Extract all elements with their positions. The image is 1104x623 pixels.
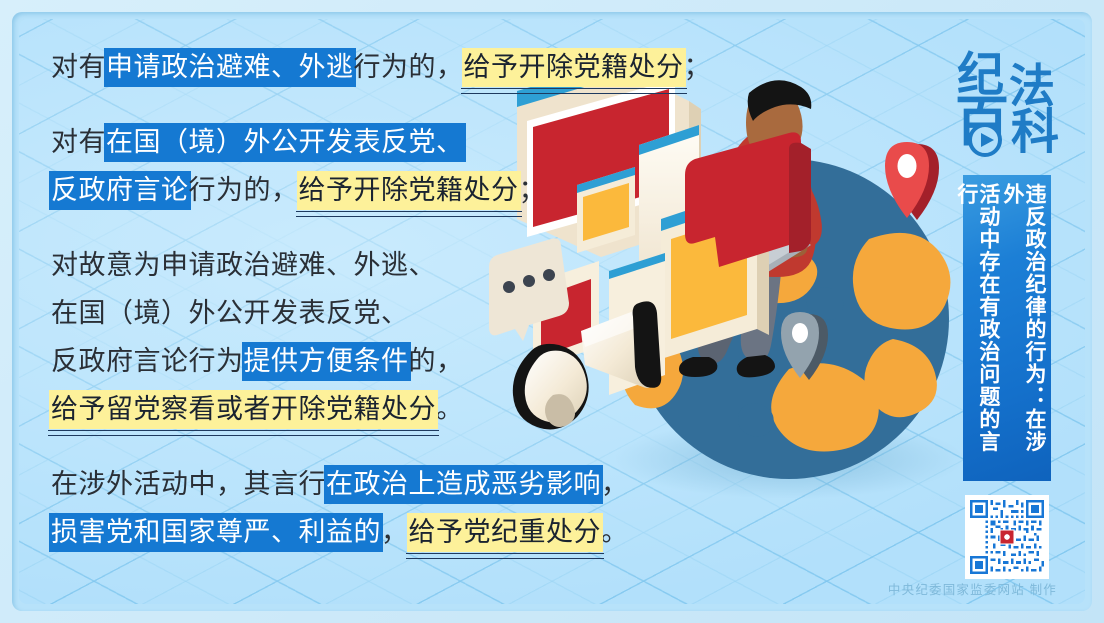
highlight-yellow-run: 给予留党察看或者开除党籍处分 xyxy=(51,392,436,427)
highlight-blue-run: 损害党和国家尊严、利益的 xyxy=(51,515,381,550)
highlight-yellow-run: 给予开除党籍处分 xyxy=(299,173,519,208)
text-line: 对有申请政治避难、外逃行为的，给予开除党籍处分； xyxy=(51,43,691,91)
highlight-blue-run: 反政府言论 xyxy=(51,173,189,208)
body-text-block: 对有申请政治避难、外逃行为的，给予开除党籍处分； 对有在国（境）外公开发表反党、… xyxy=(51,43,691,556)
paragraph-3: 对故意为申请政治避难、外逃、 在国（境）外公开发表反党、 反政府言论行为提供方便… xyxy=(51,241,691,433)
banner-column-right: 违反政治纪律的行为：在涉外 xyxy=(1001,183,1045,475)
text-line: 在国（境）外公开发表反党、 xyxy=(51,289,691,337)
play-triangle-icon xyxy=(968,123,1002,157)
poster-root: 对有申请政治避难、外逃行为的，给予开除党籍处分； 对有在国（境）外公开发表反党、… xyxy=(0,0,1104,623)
paragraph-2: 对有在国（境）外公开发表反党、 反政府言论行为的，给予开除党籍处分； xyxy=(51,118,691,214)
vertical-title-banner: 违反政治纪律的行为：在涉外 活动中存在有政治问题的言行 xyxy=(963,175,1051,481)
highlight-yellow-run: 给予党纪重处分 xyxy=(409,515,602,550)
text-line: 反政府言论行为的，给予开除党籍处分； xyxy=(51,166,691,214)
text-run: 行为的， xyxy=(189,175,299,205)
paragraph-1: 对有申请政治避难、外逃行为的，给予开除党籍处分； xyxy=(51,43,691,91)
paragraph-4: 在涉外活动中，其言行在政治上造成恶劣影响， 损害党和国家尊严、利益的，给予党纪重… xyxy=(51,460,691,556)
text-run: 对有 xyxy=(51,127,106,157)
poster-stage: 对有申请政治避难、外逃行为的，给予开除党籍处分； 对有在国（境）外公开发表反党、… xyxy=(19,19,1085,604)
right-rail: 纪 法 百 科 违反政治纪律的行为：在涉外 活动中存在有政治问题的言行 xyxy=(951,41,1063,579)
text-run: 的， xyxy=(409,346,464,376)
text-run: ； xyxy=(684,52,712,82)
qr-code-image xyxy=(970,500,1044,574)
text-line: 对故意为申请政治避难、外逃、 xyxy=(51,241,691,289)
highlight-blue-run: 申请政治避难、外逃 xyxy=(106,50,354,85)
text-run: ； xyxy=(519,175,547,205)
text-run: 在国（境）外公开发表反党、 xyxy=(51,298,409,328)
text-line: 对有在国（境）外公开发表反党、 xyxy=(51,118,691,166)
logo-char-ke: 科 xyxy=(1011,109,1059,157)
highlight-blue-run: 在政治上造成恶劣影响 xyxy=(326,467,601,502)
highlight-blue-run: 在国（境）外公开发表反党、 xyxy=(106,125,464,160)
text-line: 在涉外活动中，其言行在政治上造成恶劣影响， xyxy=(51,460,691,508)
brand-logo-jifabaike[interactable]: 纪 法 百 科 xyxy=(955,51,1059,167)
text-run: 。 xyxy=(436,394,464,424)
text-run: 对故意为申请政治避难、外逃、 xyxy=(51,250,436,280)
red-seal-icon xyxy=(999,529,1014,544)
logo-char-fa: 法 xyxy=(1009,63,1055,109)
text-line: 给予留党察看或者开除党籍处分。 xyxy=(51,385,691,433)
text-line: 反政府言论行为提供方便条件的， xyxy=(51,337,691,385)
highlight-blue-run: 提供方便条件 xyxy=(244,344,409,379)
text-run: ， xyxy=(601,469,629,499)
text-run: 在涉外活动中，其言行 xyxy=(51,469,326,499)
text-line: 损害党和国家尊严、利益的，给予党纪重处分。 xyxy=(51,508,691,556)
text-run: 反政府言论行为 xyxy=(51,346,244,376)
banner-column-left: 活动中存在有政治问题的言行 xyxy=(955,183,999,475)
text-run: 行为的， xyxy=(354,52,464,82)
text-run: 。 xyxy=(601,517,629,547)
qr-code[interactable] xyxy=(965,495,1049,579)
text-run: 对有 xyxy=(51,52,106,82)
logo-char-ji: 纪 xyxy=(957,51,1004,98)
highlight-yellow-run: 给予开除党籍处分 xyxy=(464,50,684,85)
credit-text: 中央纪委国家监委网站 制作 xyxy=(888,579,1057,598)
text-run: ， xyxy=(381,517,409,547)
